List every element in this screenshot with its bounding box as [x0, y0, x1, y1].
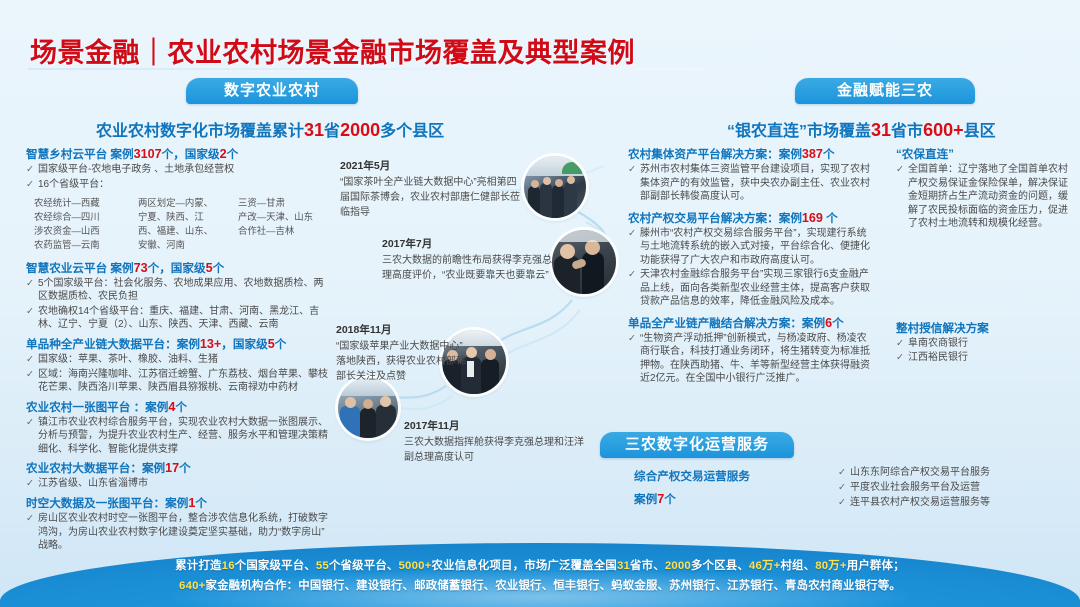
left-sec-4-title-number-1: 17 [165, 461, 179, 475]
ops-case-pre: 案例 [634, 493, 657, 506]
left-sec-1-title-pre: 智慧农业云平台 案例 [26, 262, 134, 275]
province-table-cell: 安徽、河南 [138, 238, 238, 252]
left-sec-1-title-post: 个 [213, 262, 225, 275]
check-icon: ✓ [628, 227, 636, 268]
section-spacer [896, 232, 1076, 320]
footer-l1-h: 用户群体； [847, 560, 905, 572]
check-icon: ✓ [26, 368, 34, 395]
left-sec-0-bullet: ✓国家级平台-农地电子政务 、土地承包经营权 [26, 163, 331, 177]
footer-l1-d: 农业信息化项目，市场广泛覆盖全国 [432, 560, 617, 572]
left-sec-0-title-number-2: 2 [220, 147, 227, 161]
right-main-sec-1-bullet: ✓滕州市“农村产权交易综合服务平台”，实现建行系统与土地流转系统的嵌入式对接，平… [628, 227, 874, 268]
check-icon: ✓ [26, 353, 34, 367]
section-spacer [628, 387, 874, 392]
timeline-date: 2017年7月 [382, 236, 560, 251]
check-icon: ✓ [628, 332, 636, 386]
province-table-cell: 西、福建、山东、 [138, 224, 238, 238]
headline-right-pre: “银农直连”市场覆盖 [727, 123, 871, 140]
left-sec-4-title-pre: 农业农村大数据平台：案例 [26, 462, 165, 475]
footer-l1-n3: 5000+ [399, 560, 432, 572]
check-icon: ✓ [896, 351, 904, 365]
headline-right-number-2: 600+ [923, 120, 964, 140]
ops-item-bullet: ✓平度农业社会服务平台及运营 [838, 481, 1078, 495]
province-table-cell: 农经统计—西藏 [34, 196, 138, 210]
right-main-sec-0-title-number-1: 387 [802, 147, 823, 161]
left-sec-0-title-number-1: 3107 [134, 147, 162, 161]
timeline-body: 三农大数据指挥舱获得李克强总理和汪洋副总理高度认可 [404, 435, 584, 465]
left-sec-2-bullet: ✓国家级：苹果、茶叶、橡胶、油料、生猪 [26, 353, 331, 367]
right-main-sec-0-title-pre: 农村集体资产平台解决方案：案例 [628, 148, 802, 161]
left-sec-1-bullet: ✓农地确权14个省级平台：重庆、福建、甘肃、河南、黑龙江、吉林、辽宁、宁夏（2）… [26, 305, 331, 332]
headline-right: “银农直连”市场覆盖31省市600+县区 [727, 117, 996, 141]
left-sec-3-title-post: 个 [175, 401, 187, 414]
left-sec-1-bullet-text: 农地确权14个省级平台：重庆、福建、甘肃、河南、黑龙江、吉林、辽宁、宁夏（2）、… [38, 305, 331, 332]
left-sec-5-title-post: 个 [195, 497, 207, 510]
check-icon: ✓ [896, 163, 904, 231]
check-icon: ✓ [26, 512, 34, 553]
right-main-sec-2-title-pre: 单品全产业链产融结合解决方案：案例 [628, 317, 825, 330]
ops-case-post: 个 [664, 493, 676, 506]
right-side-sec-1-bullet-text: 江西裕民银行 [908, 351, 1076, 365]
left-sec-5-bullet-text: 房山区农业农村时空一张图平台，整合涉农信息化系统，打破数字鸿沟，为房山农业农村数… [38, 512, 331, 553]
left-sec-0-bullet-text: 国家级平台-农地电子政务 、土地承包经营权 [38, 163, 331, 177]
right-main-sec-0-bullet: ✓苏州市农村集体三资监管平台建设项目，实现了农村集体资产的有效监管，获中央农办副… [628, 163, 874, 204]
left-sec-1-bullet: ✓5个国家级平台：社会化服务、农地成果应用、农地数据质检、两区数据质检、农民负担 [26, 277, 331, 304]
left-sec-3-bullet-text: 镇江市农业农村综合服务平台，实现农业农村大数据一张图展示、分析与预警，为提升农业… [38, 416, 331, 457]
headline-left-mid: 省 [324, 123, 340, 140]
section-header-digital-agriculture: 数字农业农村 [186, 78, 358, 104]
footer-l1-b: 个国家级平台、 [235, 560, 316, 572]
ops-item-bullet-text: 平度农业社会服务平台及运营 [850, 481, 1078, 495]
left-sec-1-title-mid: 个，国家级 [148, 262, 206, 275]
slide-root: 场景金融｜农业农村场景金融市场覆盖及典型案例 数字农业农村 金融赋能三农 三农数… [0, 0, 1080, 607]
right-main-sec-2-section-title: 单品全产业链产融结合解决方案：案例6个 [628, 315, 874, 331]
left-sec-1-section-title: 智慧农业云平台 案例73个，国家级5个 [26, 260, 331, 276]
headline-left-post: 多个县区 [380, 123, 444, 140]
check-icon: ✓ [896, 337, 904, 351]
ops-left-label: 综合产权交易运营服务 案例7个 [634, 466, 794, 512]
right-side-sec-0-title-pre: “农保直连” [896, 148, 954, 161]
footer-line-1: 累计打造16个国家级平台、55个省级平台、5000+农业信息化项目，市场广泛覆盖… [0, 557, 1080, 577]
footer-l1-n6: 46万+ [749, 560, 781, 572]
timeline-photo-1 [524, 156, 586, 218]
province-table-cell: 宁夏、陕西、江 [138, 210, 238, 224]
footer-line-2: 640+家金融机构合作：中国银行、建设银行、邮政储蓄银行、农业银行、恒丰银行、蚂… [0, 577, 1080, 597]
right-main-sec-1-title-pre: 农村产权交易平台解决方案：案例 [628, 212, 802, 225]
timeline-date: 2021年5月 [340, 158, 522, 173]
footer-l2-a: 家金融机构合作：中国银行、建设银行、邮政储蓄银行、农业银行、恒丰银行、蚂蚁金服、… [206, 580, 901, 592]
left-sec-3-title-pre: 农业农村一张图平台 ：案例 [26, 401, 168, 414]
headline-left-number-2: 2000 [340, 120, 380, 140]
right-main-sec-2-bullet-text: “生物资产浮动抵押”创新模式，与杨凌政府、杨凌农商行联合，科技打通业务闭环，将生… [640, 332, 874, 386]
footer-text: 累计打造16个国家级平台、55个省级平台、5000+农业信息化项目，市场广泛覆盖… [0, 557, 1080, 596]
left-sec-3-bullet: ✓镇江市农业农村综合服务平台，实现农业农村大数据一张图展示、分析与预警，为提升农… [26, 416, 331, 457]
left-sec-0-title-post: 个 [227, 148, 239, 161]
left-sec-2-title-number-2: 5 [268, 337, 275, 351]
right-side-sec-1-section-title: 整村授信解决方案 [896, 320, 1076, 336]
timeline-body: “国家级苹果产业大数据中心”落地陕西，获得农业农村部韩部长关注及点赞 [336, 339, 472, 384]
right-main-sec-1-bullet: ✓天津农村金融综合服务平台”实现三家银行6支金融产品上线，面向各类新型农业经营主… [628, 268, 874, 309]
headline-left-pre: 农业农村数字化市场覆盖累计 [96, 123, 304, 140]
right-side-sec-1-bullet: ✓江西裕民银行 [896, 351, 1076, 365]
headline-left-number-1: 31 [304, 120, 324, 140]
footer-l1-f: 多个区县、 [691, 560, 749, 572]
left-sec-4-bullet-text: 江苏省级、山东省淄博市 [38, 477, 331, 491]
ops-title: 综合产权交易运营服务 [634, 466, 794, 488]
right-main-sec-2-bullet: ✓“生物资产浮动抵押”创新模式，与杨凌政府、杨凌农商行联合，科技打通业务闭环，将… [628, 332, 874, 386]
right-main-sec-0-bullet-text: 苏州市农村集体三资监管平台建设项目，实现了农村集体资产的有效监管，获中央农办副主… [640, 163, 874, 204]
check-icon: ✓ [26, 305, 34, 332]
left-sec-5-title-pre: 时空大数据及一张图平台：案例 [26, 497, 188, 510]
province-table-cell [238, 238, 339, 252]
headline-right-mid: 省市 [891, 123, 923, 140]
left-sec-0-bullet: ✓16个省级平台： [26, 178, 331, 192]
timeline-item-4: 2017年11月三农大数据指挥舱获得李克强总理和汪洋副总理高度认可 [404, 418, 584, 465]
left-content-column: 智慧乡村云平台 案例3107个，国家级2个✓国家级平台-农地电子政务 、土地承包… [26, 146, 331, 557]
right-main-sec-0-section-title: 农村集体资产平台解决方案：案例387个 [628, 146, 874, 162]
province-platform-table: 农经统计—西藏两区划定—内蒙、三资—甘肃农经综合—四川宁夏、陕西、江产改—天津、… [34, 196, 331, 252]
timeline-item-3: 2018年11月“国家级苹果产业大数据中心”落地陕西，获得农业农村部韩部长关注及… [336, 322, 472, 384]
right-main-subcolumn: 农村集体资产平台解决方案：案例387个✓苏州市农村集体三资监管平台建设项目，实现… [628, 146, 874, 392]
left-sec-1-title-number-2: 5 [206, 261, 213, 275]
footer-l1-n4: 31 [617, 560, 630, 572]
check-icon: ✓ [628, 268, 636, 309]
left-sec-4-title-post: 个 [179, 462, 191, 475]
footer-l1-n7: 80万+ [815, 560, 847, 572]
right-main-sec-1-title-post: 个 [823, 212, 838, 225]
left-sec-0-title-pre: 智慧乡村云平台 案例 [26, 148, 134, 161]
province-table-cell: 合作社—吉林 [238, 224, 339, 238]
headline-right-number-1: 31 [871, 120, 891, 140]
right-main-sec-1-section-title: 农村产权交易平台解决方案：案例169 个 [628, 210, 874, 226]
right-side-sec-1-title-pre: 整村授信解决方案 [896, 322, 989, 335]
left-sec-2-title-mid: ，国家级 [221, 338, 267, 351]
left-sec-2-bullet-text: 区域：海南兴隆咖啡、江苏宿迁螃蟹、广东荔枝、烟台苹果、攀枝花芒果、陕西洛川苹果、… [38, 368, 331, 395]
left-sec-0-section-title: 智慧乡村云平台 案例3107个，国家级2个 [26, 146, 331, 162]
left-sec-2-section-title: 单品种全产业链大数据平台：案例13+，国家级5个 [26, 336, 331, 352]
section-header-finance-empowerment: 金融赋能三农 [795, 78, 975, 104]
province-table-cell: 三资—甘肃 [238, 196, 339, 210]
left-sec-2-title-post: 个 [275, 338, 287, 351]
right-main-sec-1-bullet-text: 滕州市“农村产权交易综合服务平台”，实现建行系统与土地流转系统的嵌入式对接，平台… [640, 227, 874, 268]
footer-l1-a: 累计打造 [175, 560, 221, 572]
check-icon: ✓ [26, 163, 34, 177]
check-icon: ✓ [26, 277, 34, 304]
right-main-sec-0-title-post: 个 [823, 148, 835, 161]
footer-l1-n5: 2000 [665, 560, 691, 572]
headline-right-post: 县区 [964, 123, 996, 140]
right-side-sec-1-bullet: ✓阜南农商银行 [896, 337, 1076, 351]
left-sec-5-bullet: ✓房山区农业农村时空一张图平台，整合涉农信息化系统，打破数字鸿沟，为房山农业农村… [26, 512, 331, 553]
right-main-sec-2-title-post: 个 [832, 317, 844, 330]
right-side-subcolumn: “农保直连”✓全国首单：辽宁落地了全国首单农村产权交易保证金保险保单，解决保证金… [896, 146, 1076, 371]
ops-item-bullet-text: 山东东阿综合产权交易平台服务 [850, 466, 1078, 480]
left-sec-0-bullet-text: 16个省级平台： [38, 178, 331, 192]
headline-left: 农业农村数字化市场覆盖累计31省2000多个县区 [96, 117, 444, 141]
timeline-date: 2018年11月 [336, 322, 472, 337]
check-icon: ✓ [26, 477, 34, 491]
ops-case-count: 案例7个 [634, 488, 794, 512]
right-side-sec-0-section-title: “农保直连” [896, 146, 1076, 162]
right-side-sec-1-bullet-text: 阜南农商银行 [908, 337, 1076, 351]
ops-item-bullet-text: 连平县农村产权交易运营服务等 [850, 496, 1078, 510]
timeline-photo-2 [552, 230, 616, 294]
timeline-photo-4 [338, 378, 398, 438]
timeline-body: 三农大数据的前瞻性布局获得李克强总理高度评价，“农业既要靠天也要靠云” [382, 253, 560, 283]
left-sec-2-title-number-1: 13+ [200, 337, 221, 351]
right-side-sec-0-bullet-text: 全国首单：辽宁落地了全国首单农村产权交易保证金保险保单，解决保证金短期挤占生产流… [908, 163, 1076, 231]
left-sec-2-title-pre: 单品种全产业链大数据平台：案例 [26, 338, 200, 351]
province-table-cell: 涉农资金—山西 [34, 224, 138, 238]
check-icon: ✓ [26, 416, 34, 457]
province-table-cell: 产改—天津、山东 [238, 210, 339, 224]
timeline-item-1: 2021年5月“国家茶叶全产业链大数据中心”亮相第四届国际茶博会，农业农村部唐仁… [340, 158, 522, 220]
section-spacer [896, 366, 1076, 371]
timeline-column: 2021年5月“国家茶叶全产业链大数据中心”亮相第四届国际茶博会，农业农村部唐仁… [336, 150, 626, 520]
left-sec-5-section-title: 时空大数据及一张图平台：案例1个 [26, 495, 331, 511]
left-sec-4-section-title: 农业农村大数据平台：案例17个 [26, 460, 331, 476]
right-main-sec-1-title-number-1: 169 [802, 211, 823, 225]
ops-item-bullet: ✓连平县农村产权交易运营服务等 [838, 496, 1078, 510]
page-title: 场景金融｜农业农村场景金融市场覆盖及典型案例 [30, 31, 635, 70]
timeline-date: 2017年11月 [404, 418, 584, 433]
ops-item-bullet: ✓山东东阿综合产权交易平台服务 [838, 466, 1078, 480]
province-table-cell: 农药监管—云南 [34, 238, 138, 252]
footer-l1-g: 村组、 [780, 560, 815, 572]
check-icon: ✓ [838, 496, 846, 510]
timeline-body: “国家茶叶全产业链大数据中心”亮相第四届国际茶博会，农业农村部唐仁健部长莅临指导 [340, 175, 522, 220]
left-sec-2-bullet-text: 国家级：苹果、茶叶、橡胶、油料、生猪 [38, 353, 331, 367]
title-divider [28, 68, 708, 70]
left-sec-2-bullet: ✓区域：海南兴隆咖啡、江苏宿迁螃蟹、广东荔枝、烟台苹果、攀枝花芒果、陕西洛川苹果… [26, 368, 331, 395]
left-sec-3-section-title: 农业农村一张图平台 ：案例4个 [26, 399, 331, 415]
check-icon: ✓ [838, 466, 846, 480]
check-icon: ✓ [628, 163, 636, 204]
province-table-cell: 两区划定—内蒙、 [138, 196, 238, 210]
footer-l2-n1: 640+ [179, 580, 205, 592]
province-table-cell: 农经综合—四川 [34, 210, 138, 224]
right-side-sec-0-bullet: ✓全国首单：辽宁落地了全国首单农村产权交易保证金保险保单，解决保证金短期挤占生产… [896, 163, 1076, 231]
right-main-sec-1-bullet-text: 天津农村金融综合服务平台”实现三家银行6支金融产品上线，面向各类新型农业经营主体… [640, 268, 874, 309]
ops-item-list: ✓山东东阿综合产权交易平台服务✓平度农业社会服务平台及运营✓连平县农村产权交易运… [838, 466, 1078, 510]
timeline-item-2: 2017年7月三农大数据的前瞻性布局获得李克强总理高度评价，“农业既要靠天也要靠… [382, 236, 560, 283]
footer-l1-n2: 55 [316, 560, 329, 572]
footer-l1-n1: 16 [222, 560, 235, 572]
left-sec-1-title-number-1: 73 [134, 261, 148, 275]
footer-l1-e: 省市、 [630, 560, 665, 572]
left-sec-1-bullet-text: 5个国家级平台：社会化服务、农地成果应用、农地数据质检、两区数据质检、农民负担 [38, 277, 331, 304]
footer-l1-c: 个省级平台、 [329, 560, 399, 572]
section-header-operation-services: 三农数字化运营服务 [600, 432, 794, 458]
left-sec-4-bullet: ✓江苏省级、山东省淄博市 [26, 477, 331, 491]
check-icon: ✓ [26, 178, 34, 192]
left-sec-0-title-mid: 个，国家级 [162, 148, 220, 161]
check-icon: ✓ [838, 481, 846, 495]
